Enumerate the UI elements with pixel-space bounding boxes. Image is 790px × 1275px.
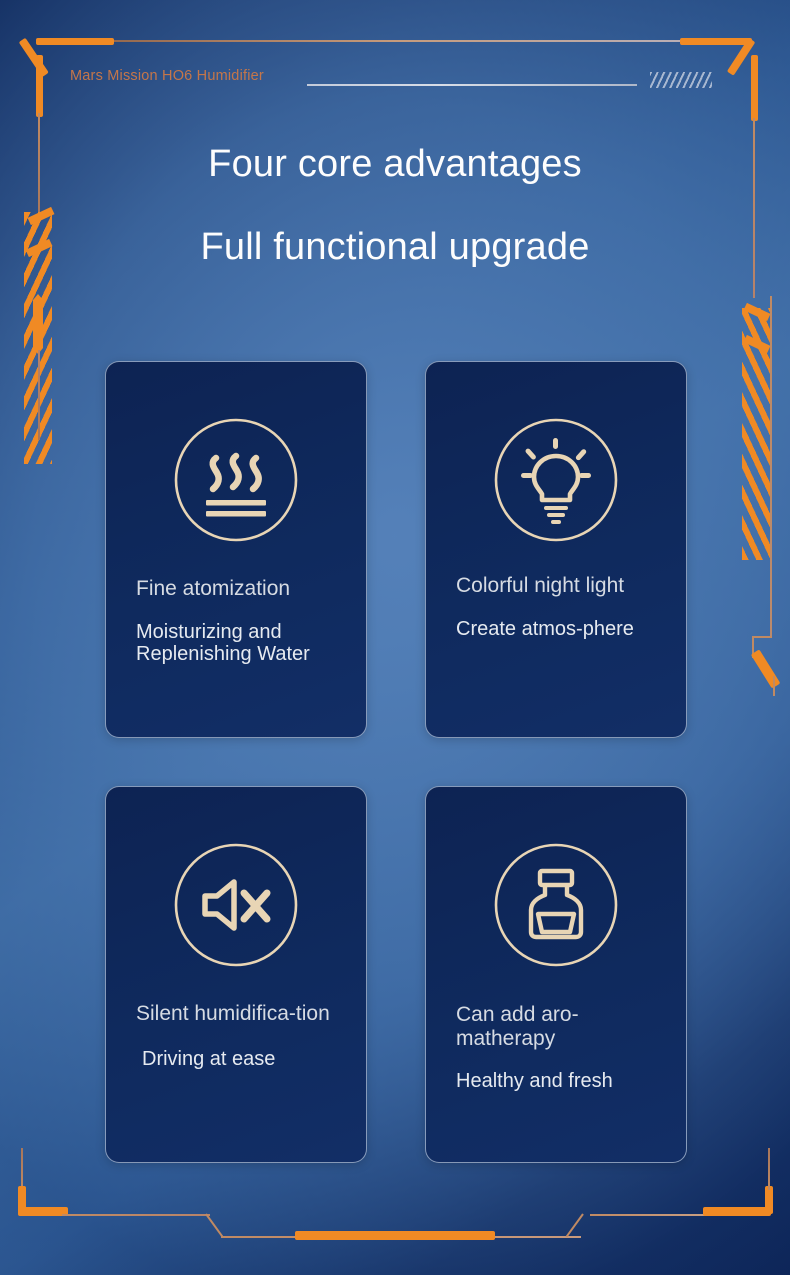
feature-card-text: Silent humidifica-tion Driving at ease [106,1002,366,1070]
frame-bottom-diagonal-right [566,1213,584,1237]
brand-label: Mars Mission HO6 Humidifier [70,68,264,84]
frame-bottom-diagonal-left [205,1213,223,1237]
frame-top-line [58,40,734,42]
feature-card-text: Can add aro-matherapy Healthy and fresh [426,1003,686,1092]
feature-card-colorful-night-light[interactable]: Colorful night light Create atmos-phere [425,361,687,738]
feature-card-subtitle: Driving at ease [136,1048,336,1070]
frame-bottom-accent-bar [295,1231,495,1240]
feature-card-title: Silent humidifica-tion [136,1002,336,1026]
right-jog-horizontal [752,636,772,638]
frame-bottom-right-vertical [765,1186,773,1214]
frame-top-right-bar [680,38,752,45]
feature-card-subtitle: Create atmos-phere [456,618,656,640]
lightbulb-icon [426,416,686,544]
feature-card-text: Colorful night light Create atmos-phere [426,574,686,640]
header-hatch-decoration [650,72,712,88]
right-tail-line [773,676,775,696]
feature-card-subtitle: Healthy and fresh [456,1070,656,1092]
left-accent-node [33,294,43,354]
aroma-bottle-icon [426,841,686,969]
headline-block: Four core advantages Full functional upg… [0,145,790,266]
headline-line-2: Full functional upgrade [0,228,790,266]
left-lower-thin-line [38,350,40,440]
frame-top-left-vertical [36,55,43,117]
feature-card-text: Fine atomization Moisturizing and Replen… [106,577,366,665]
header-rule [307,84,637,86]
feature-card-row-2: Silent humidifica-tion Driving at ease C… [105,786,687,1163]
feature-card-aromatherapy[interactable]: Can add aro-matherapy Healthy and fresh [425,786,687,1163]
frame-bottom-left-thin [21,1148,23,1190]
frame-bottom-right-thin [768,1148,770,1190]
feature-card-row-1: Fine atomization Moisturizing and Replen… [105,361,687,738]
frame-bottom-line-left [62,1214,210,1216]
feature-card-silent-humidification[interactable]: Silent humidifica-tion Driving at ease [105,786,367,1163]
feature-card-fine-atomization[interactable]: Fine atomization Moisturizing and Replen… [105,361,367,738]
frame-bottom-line-right [590,1214,712,1216]
right-accent-diagonal [751,649,781,688]
frame-top-right-vertical [751,55,758,121]
mute-speaker-icon [106,841,366,969]
feature-card-grid: Fine atomization Moisturizing and Replen… [105,361,687,1163]
frame-bottom-left-bar [18,1207,68,1216]
feature-card-subtitle: Moisturizing and Replenishing Water [136,621,336,666]
frame-bottom-right-bar [703,1207,771,1216]
feature-card-title: Colorful night light [456,574,656,598]
promo-banner: Mars Mission HO6 Humidifier Four core ad… [0,0,790,1275]
headline-line-1: Four core advantages [0,145,790,183]
feature-card-title: Fine atomization [136,577,336,601]
right-thin-line [770,296,772,636]
frame-top-left-bar [36,38,114,45]
steam-icon [106,416,366,544]
feature-card-title: Can add aro-matherapy [456,1003,656,1050]
